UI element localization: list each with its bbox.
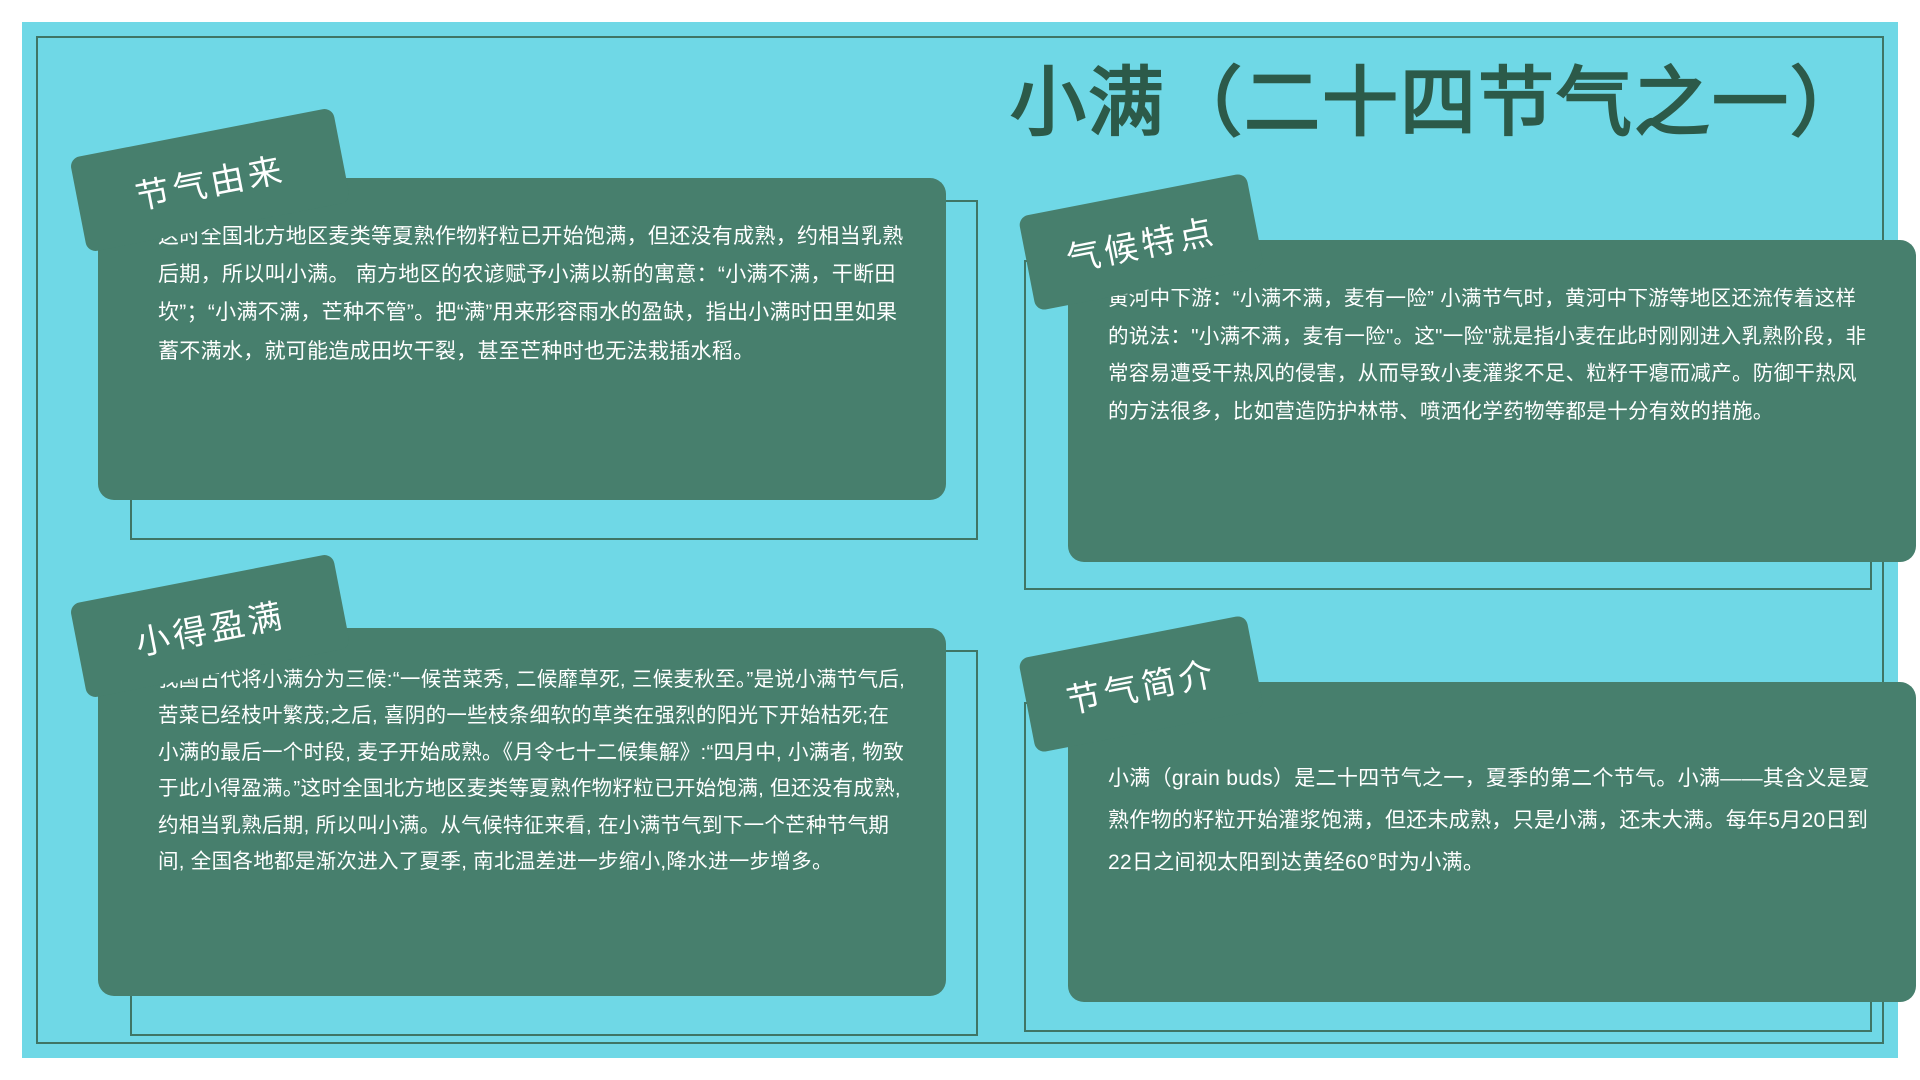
poster-stage: 小满（二十四节气之一） 这时全国北方地区麦类等夏熟作物籽粒已开始饱满，但还没有成…	[0, 0, 1920, 1080]
page-title: 小满（二十四节气之一）	[1010, 62, 1868, 146]
panel-intro-body: 小满（grain buds）是二十四节气之一，夏季的第二个节气。小满——其含义是…	[1108, 758, 1876, 884]
panel-fullness-card: 我国古代将小满分为三候:“一候苦菜秀, 二候靡草死, 三候麦秋至。”是说小满节气…	[98, 628, 946, 996]
panel-origin-body: 这时全国北方地区麦类等夏熟作物籽粒已开始饱满，但还没有成熟，约相当乳熟后期，所以…	[158, 218, 906, 371]
panel-origin-card: 这时全国北方地区麦类等夏熟作物籽粒已开始饱满，但还没有成熟，约相当乳熟后期，所以…	[98, 178, 946, 500]
panel-climate-body: 黄河中下游：“小满不满，麦有一险” 小满节气时，黄河中下游等地区还流传着这样的说…	[1108, 280, 1876, 431]
panel-fullness-body: 我国古代将小满分为三候:“一候苦菜秀, 二候靡草死, 三候麦秋至。”是说小满节气…	[158, 662, 906, 881]
panel-climate-card: 黄河中下游：“小满不满，麦有一险” 小满节气时，黄河中下游等地区还流传着这样的说…	[1068, 240, 1916, 562]
panel-intro-card: 小满（grain buds）是二十四节气之一，夏季的第二个节气。小满——其含义是…	[1068, 682, 1916, 1002]
